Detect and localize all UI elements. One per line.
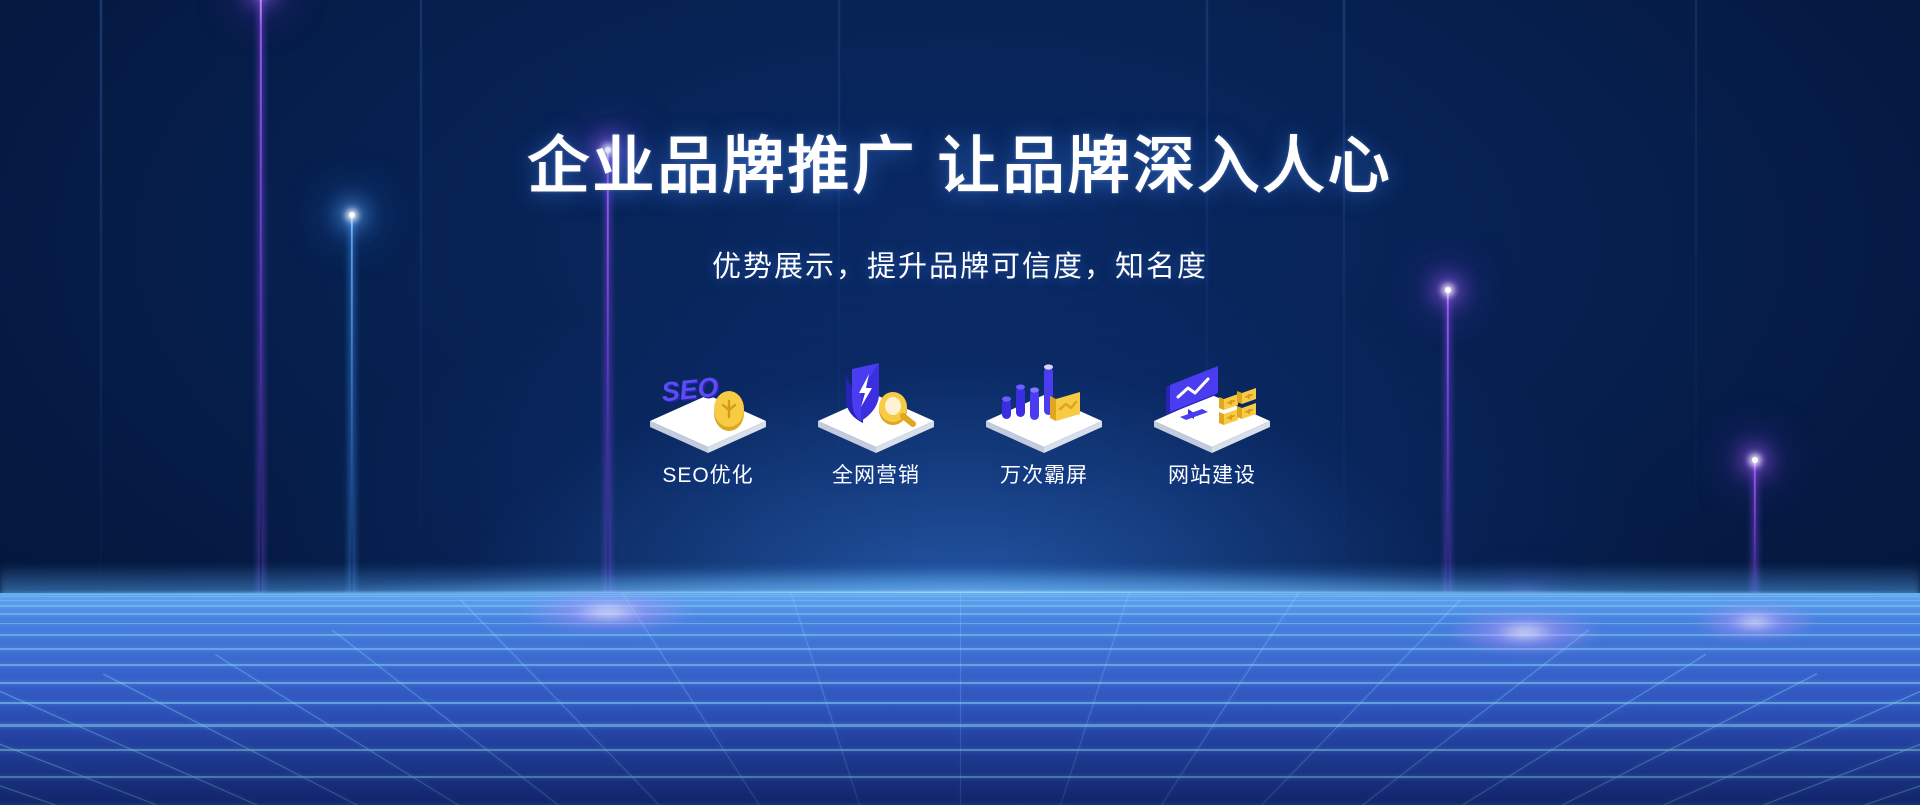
feature-label: 网站建设 [1168, 459, 1256, 489]
feature-label: 全网营销 [832, 459, 920, 489]
feature-item-marketing[interactable]: 全网营销 [807, 357, 945, 489]
feature-label: 万次霸屏 [1000, 459, 1088, 489]
feature-item-screen-domination[interactable]: 万次霸屏 [975, 357, 1113, 489]
feature-item-website-build[interactable]: 网站建设 [1143, 357, 1281, 489]
monitor-blocks-icon [1148, 357, 1276, 449]
page-subtitle: 优势展示，提升品牌可信度，知名度 [712, 243, 1208, 285]
page-title: 企业品牌推广 让品牌深入人心 [527, 115, 1392, 205]
feature-item-seo[interactable]: SEO SEO SEO优化 [639, 357, 777, 489]
hero-banner: 企业品牌推广 让品牌深入人心 优势展示，提升品牌可信度，知名度 SEO SEO [0, 0, 1920, 805]
feature-label: SEO优化 [662, 459, 753, 489]
bar-chart-folder-icon [980, 357, 1108, 449]
svg-text:SEO: SEO [660, 372, 720, 408]
shield-bolt-search-icon [812, 357, 940, 449]
seo-platform-icon: SEO SEO [644, 357, 772, 449]
banner-content: 企业品牌推广 让品牌深入人心 优势展示，提升品牌可信度，知名度 SEO SEO [0, 0, 1920, 805]
feature-list: SEO SEO SEO优化 [639, 357, 1281, 489]
